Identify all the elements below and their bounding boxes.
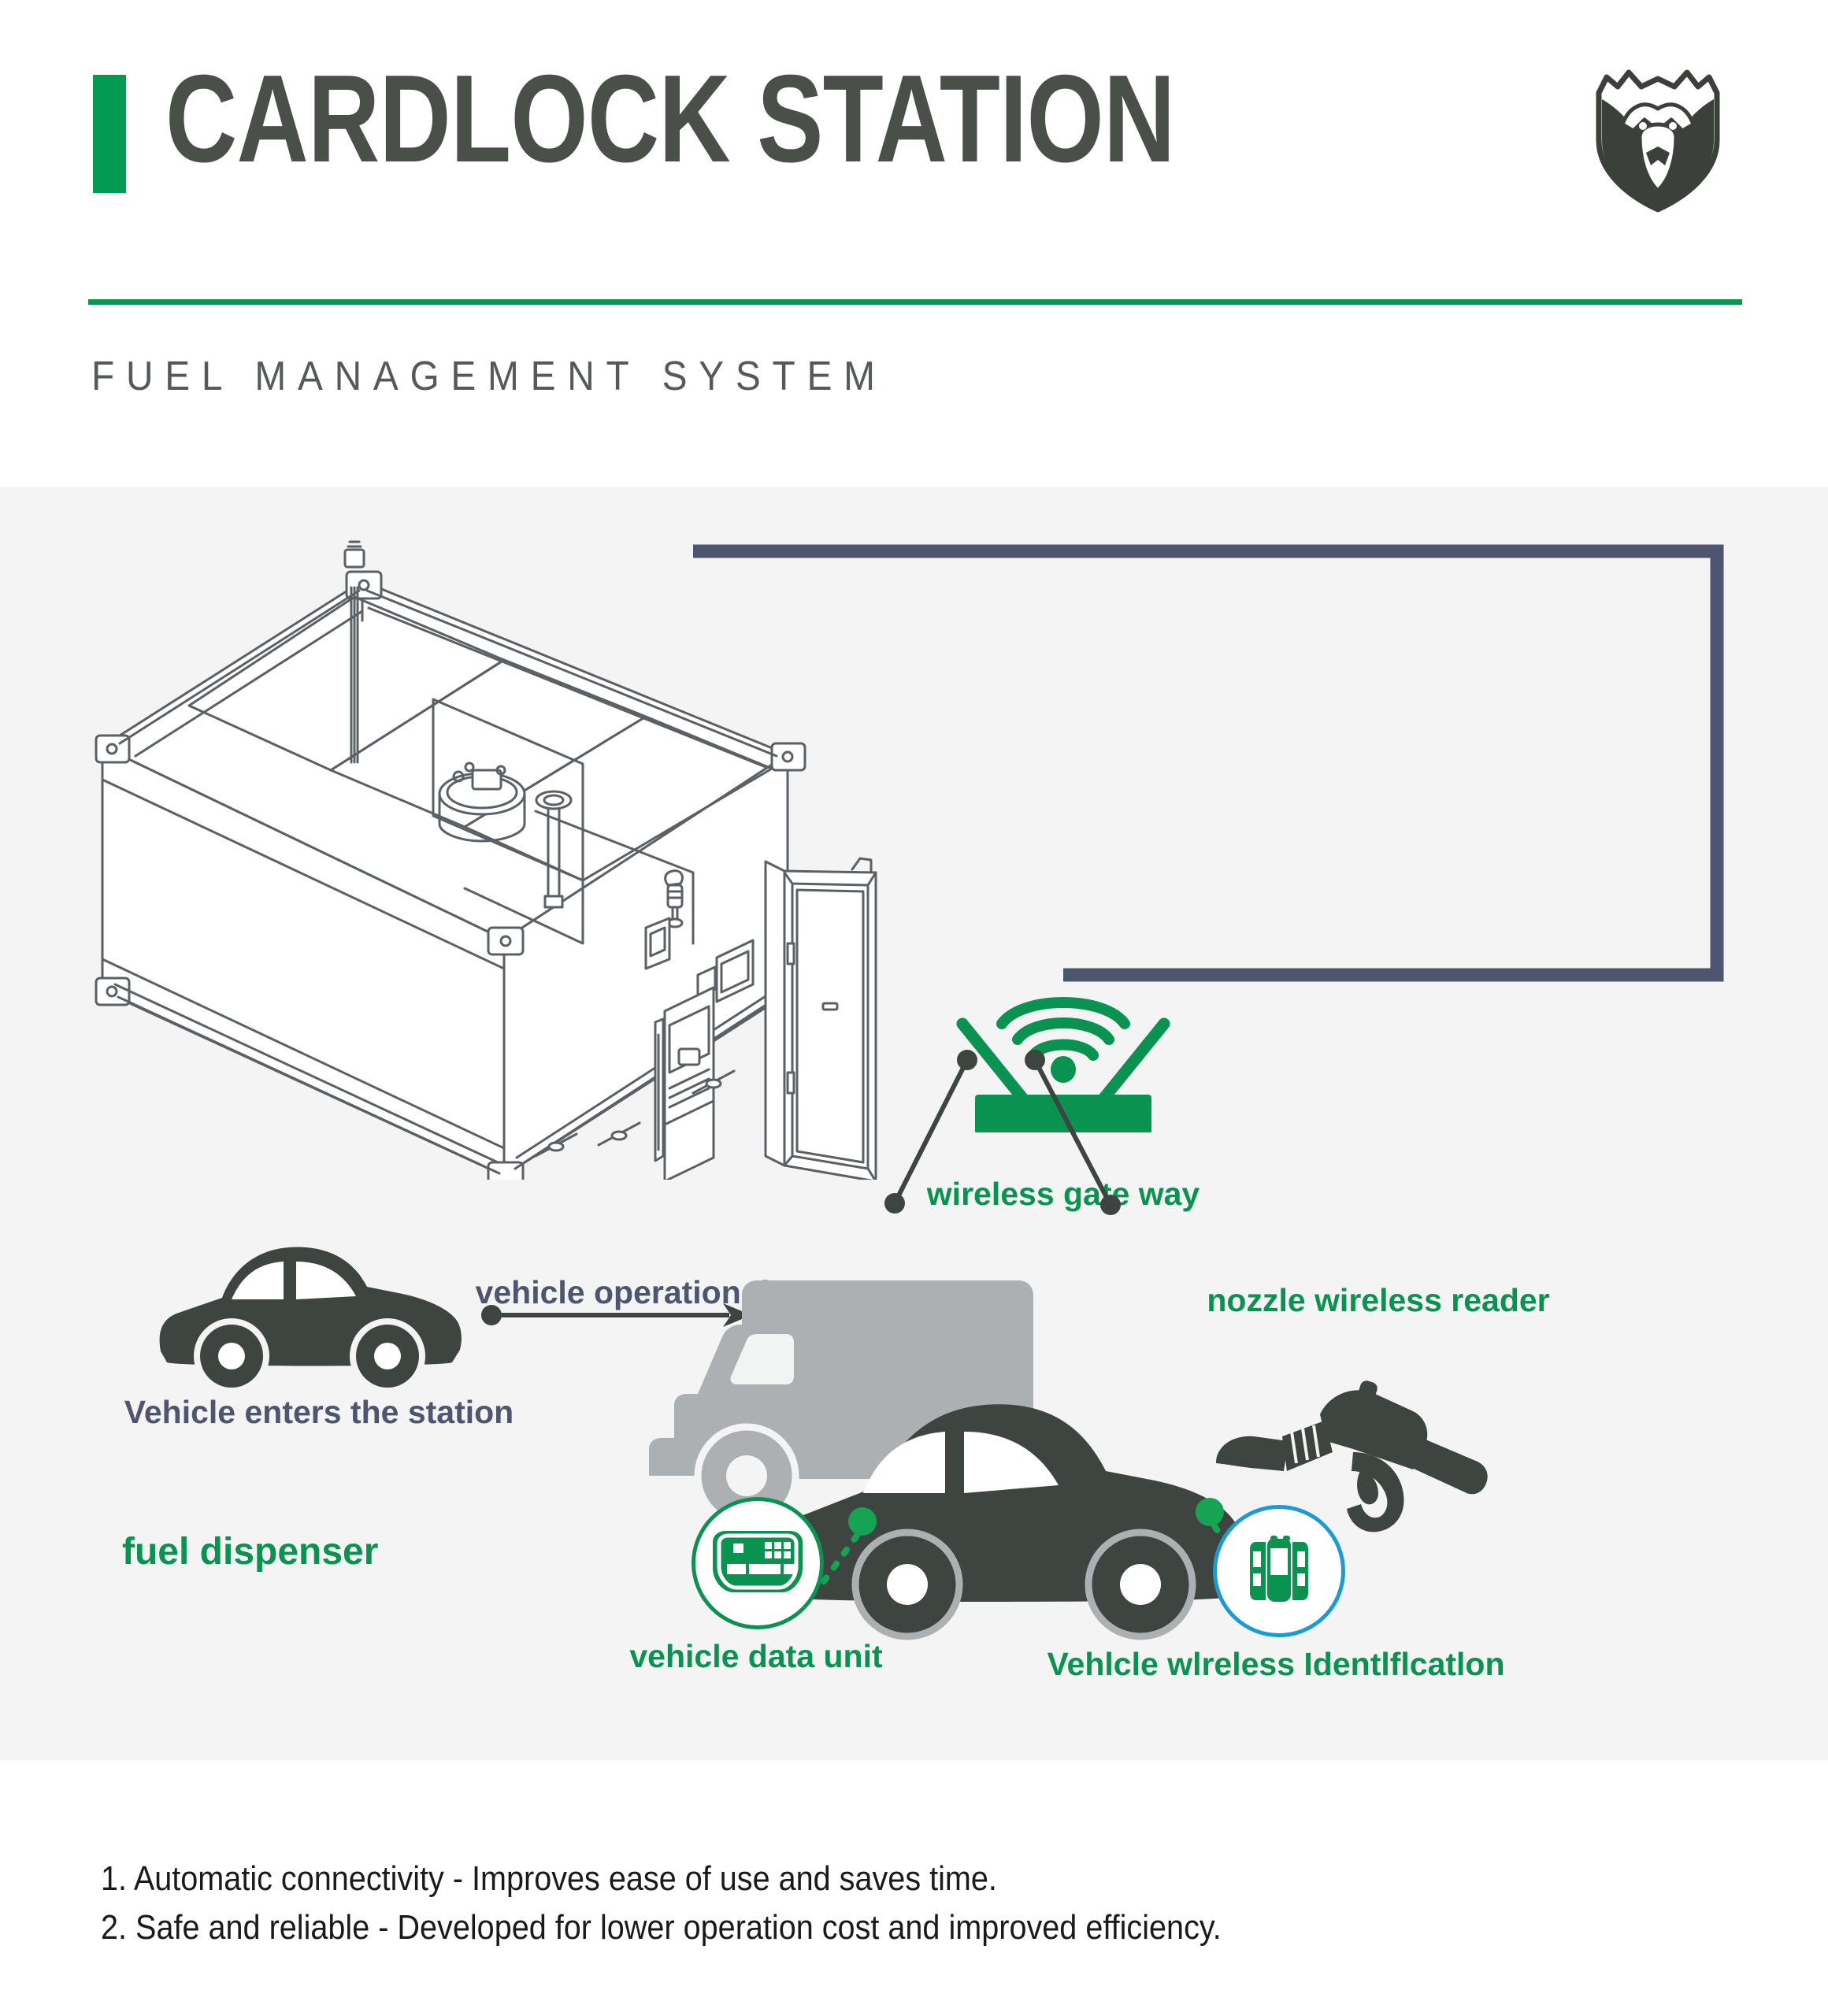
page-header: CARDLOCK STATION FUEL MANAGEMENT SYSTEM — [0, 0, 1828, 487]
nozzle-wireless-reader-label: nozzle wireless reader — [1142, 1282, 1615, 1319]
header-divider-rule — [88, 299, 1742, 305]
page-title: CARDLOCK STATION — [165, 52, 1175, 186]
vehicle-data-unit-icon — [692, 1497, 824, 1629]
fuel-dispenser-label: fuel dispenser — [122, 1530, 378, 1573]
car-side-icon-entering — [150, 1227, 480, 1408]
diagram-panel: wireless gate way Vehicle enters the sta… — [0, 487, 1828, 1760]
bear-head-shield-logo — [1583, 55, 1733, 213]
footer-note-2: 2. Safe and reliable - Developed for low… — [101, 1903, 1554, 1952]
vehicle-wireless-identification-label: Vehlcle wlreless Identlflcatlon — [992, 1646, 1559, 1683]
wireless-id-tag-icon — [1213, 1505, 1345, 1637]
footer-note-1: 1. Automatic connectivity - Improves eas… — [101, 1855, 1554, 1903]
title-accent-bar — [93, 75, 126, 193]
page-subtitle: FUEL MANAGEMENT SYSTEM — [91, 353, 887, 400]
footer-notes: 1. Automatic connectivity - Improves eas… — [101, 1855, 1715, 1952]
gateway-leader-lines — [851, 1038, 1260, 1432]
vehicle-data-unit-label: vehicle data unit — [551, 1638, 961, 1675]
vehicle-enters-station-label: Vehicle enters the station — [47, 1394, 591, 1431]
